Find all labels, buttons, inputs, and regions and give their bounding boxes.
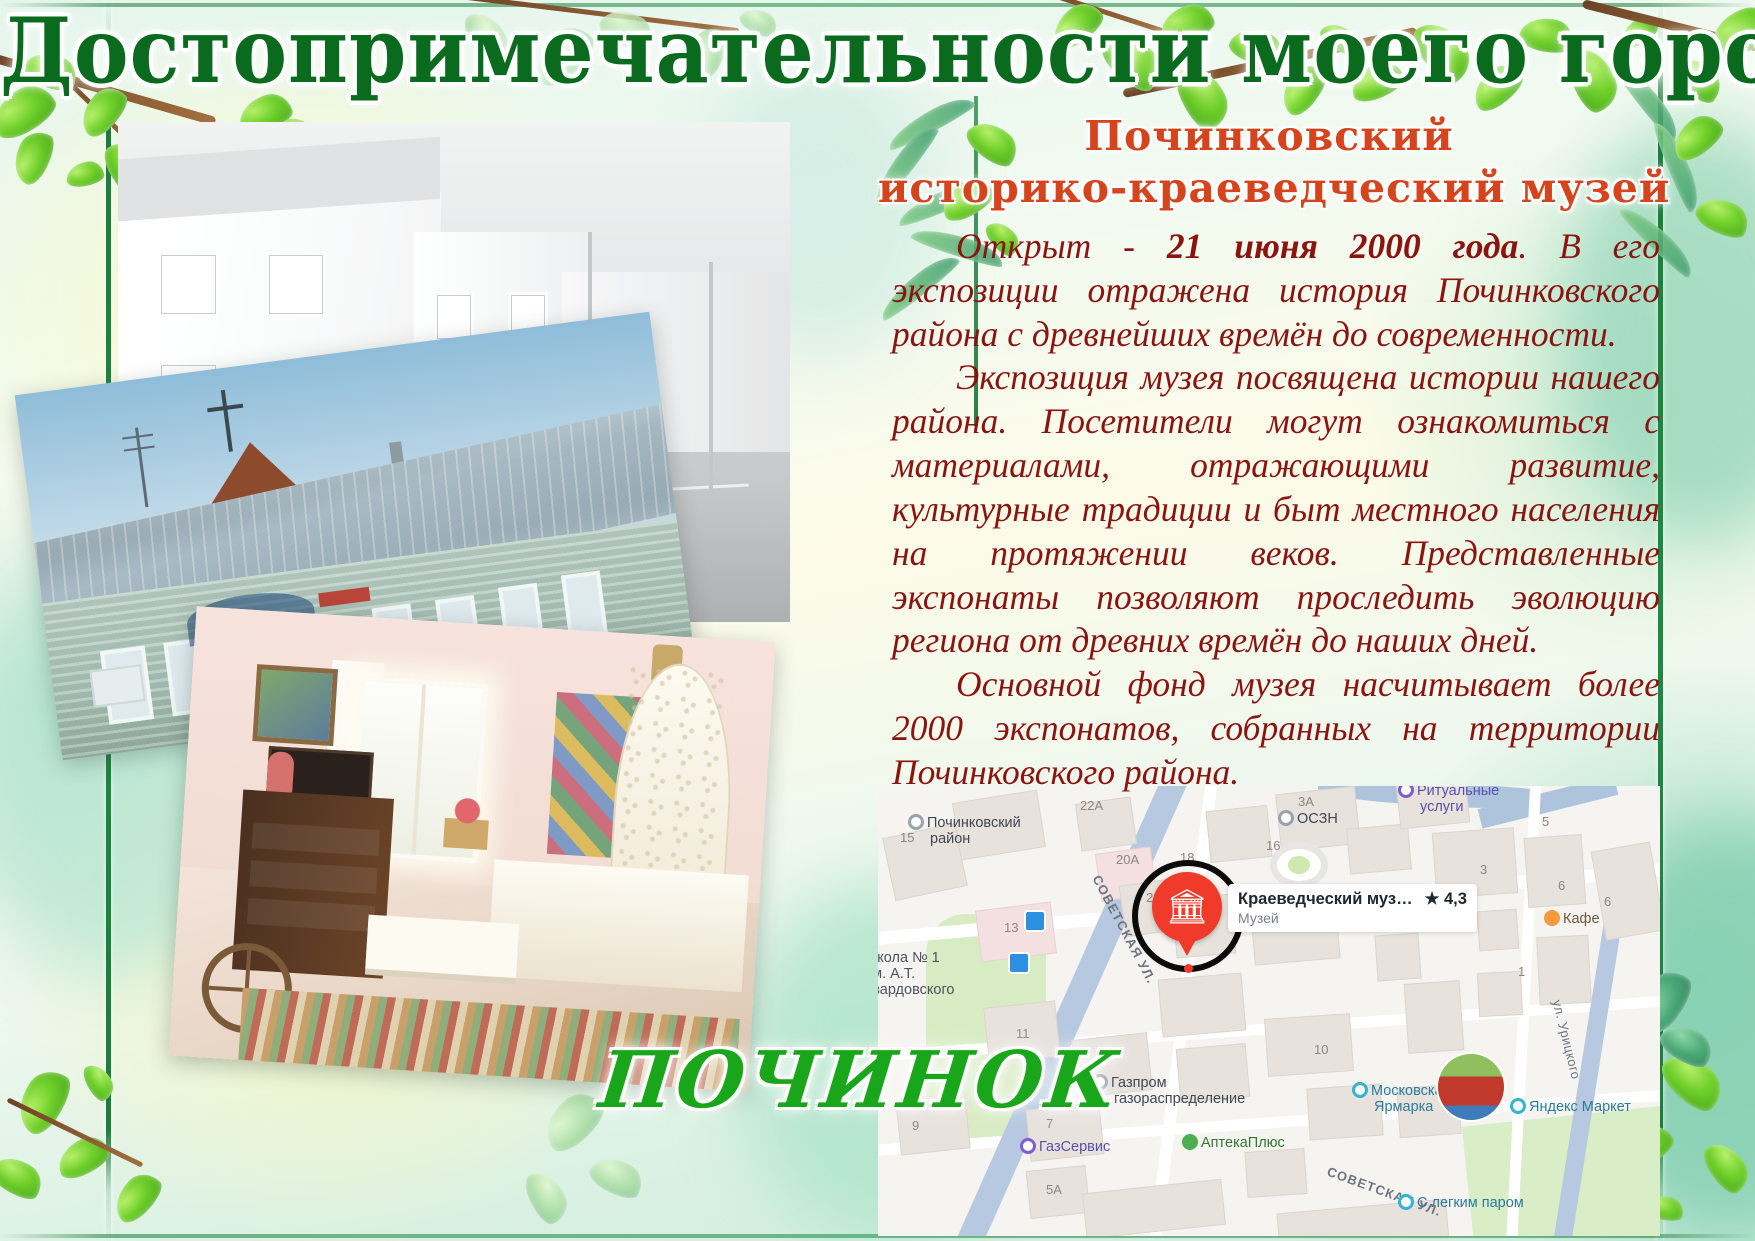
paragraph-lead: Открыт - [956,226,1167,266]
photo-utility-pole [709,262,713,492]
photo-museum-interior [168,606,775,1092]
photo-flowers [443,793,490,850]
decor-branch [6,1097,143,1167]
photo-window [158,252,218,317]
photo-window [266,252,326,317]
paragraph-exposition: Экспозиция музея посвящена истории нашег… [892,356,1660,663]
decor-leaf-icon [65,159,106,188]
photo-doll [266,751,295,795]
museum-subtitle-line2: историко-краеведческий музей [878,162,1660,214]
photo-framed-picture [252,664,338,745]
poster-canvas: Достопримечательности моего города ПОЧИН… [0,0,1755,1241]
page-title: Достопримечательности моего города [0,6,1700,98]
decor-leaf-icon [520,1165,573,1228]
decor-leaf-icon [80,1060,118,1105]
museum-subtitle-line1: Починковский [878,110,1660,162]
decor-leaf-icon [7,1062,79,1140]
photo-ac-unit [90,665,146,708]
paragraph-opening: Открыт - 21 июня 2000 года. В его экспоз… [892,225,1660,356]
city-name-label: ПОЧИНОК [596,1042,1124,1120]
decor-leaf-icon [1665,108,1729,166]
photo-window [434,292,474,342]
photo-table [366,915,520,978]
decor-leaf-icon [0,1148,49,1206]
decor-leaf-icon [1655,1043,1731,1120]
decor-leaf-icon [1691,189,1755,244]
decor-leaf-icon [5,125,60,189]
photo-bed [487,859,749,992]
decor-leaf-icon [1655,1016,1719,1074]
decor-leaf-icon [585,1149,649,1205]
paragraph-collection: Основной фонд музея насчитывает более 20… [892,663,1660,794]
museum-description: Открыт - 21 июня 2000 года. В его экспоз… [878,225,1660,795]
opening-date: 21 июня 2000 года [1167,226,1519,266]
decor-leaf-icon [106,1166,168,1228]
decor-leaf-icon [1698,1135,1755,1199]
